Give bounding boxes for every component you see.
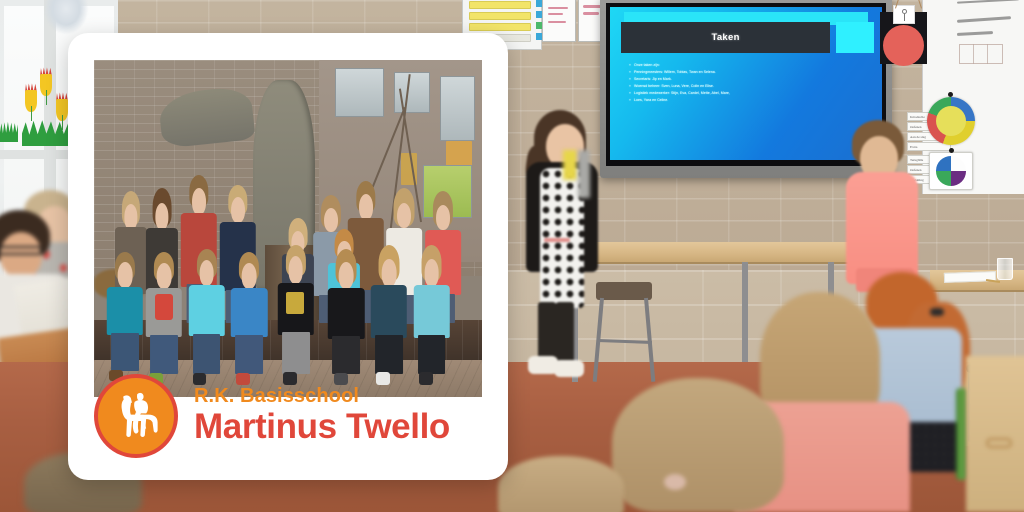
school-promo-card: R.K. Basisschool Martinus Twello [68,33,508,480]
slide-accent-block [836,22,874,53]
quarter-pie-chart [929,152,973,190]
yellow-wall-bracket [563,150,577,180]
slide-title: Taken [711,32,739,43]
class-photo-child [230,252,269,383]
class-photo-child [187,249,226,384]
student-front-left [612,378,792,512]
colour-clock-wheel [927,97,975,145]
school-logo-subtitle: R.K. Basisschool [194,386,450,407]
glasses-on-desk [986,438,1012,448]
class-photo-child [144,252,183,383]
class-photo-child [327,249,366,384]
student-front-far-left [498,456,628,512]
boy-presenter [838,120,924,290]
class-photo-child [106,252,145,380]
class-group-photo [94,60,482,397]
slide-bullet: Penningmeesters: Willem, Tobias, Twan en… [629,69,868,76]
school-logo: R.K. Basisschool Martinus Twello [94,370,489,462]
slide-bullet-list: Onze taken zijn: Penningmeesters: Willem… [629,62,868,104]
craft-red-circle [883,25,924,66]
slide-bullet: Woensd beheer: Sven, Luna, Vere, Colin e… [629,83,868,90]
lesson-phase-board: 18 april Introductie Oefenen Aan de slag… [922,0,1024,194]
class-photo-child [412,245,451,383]
slide-title-bar: Taken [621,22,830,53]
slide-bullet: Logistiek medewerker: Stijn, Eva, Cardel… [629,90,868,97]
class-photo-child [369,245,408,383]
drinking-glass [997,258,1013,280]
school-logo-title: Martinus Twello [194,408,450,446]
foreground-desk [966,356,1024,512]
craft-drawing-card [893,5,915,24]
saint-martin-on-horse-icon [94,374,178,458]
slide-bullet: Onze taken zijn: [629,62,868,69]
window-tinsel-decoration [44,0,88,34]
whiteboard-panel-left [542,0,576,42]
slide-bullet-continuation: Loes, Yara en Celine. [629,97,868,104]
slide-bullet: Secretaris: Jip en Mark. [629,76,868,83]
wall-holder [578,150,590,198]
class-photo-child [276,245,315,383]
